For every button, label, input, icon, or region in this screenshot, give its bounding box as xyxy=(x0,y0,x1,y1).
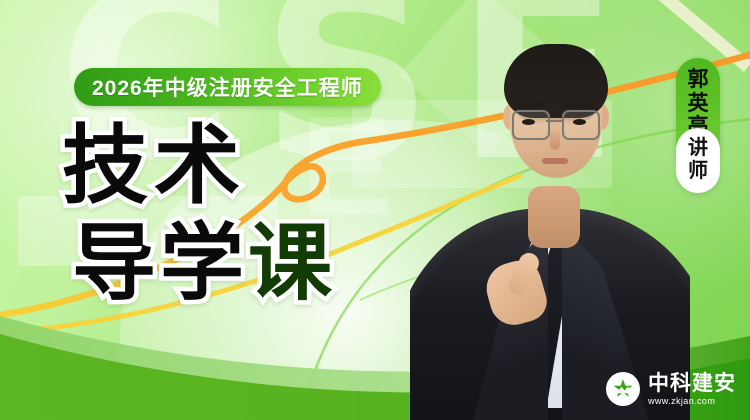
eyeglass-lens-left xyxy=(512,110,550,140)
title-line-2-accent: 课 xyxy=(248,216,336,310)
course-badge: 2026年中级注册安全工程师 xyxy=(74,68,381,106)
title-line-1: 技术 xyxy=(62,124,336,208)
eyeglass-bridge xyxy=(546,120,562,122)
brand-logo[interactable]: 中科建安 www.zkjan.com xyxy=(606,372,736,406)
title-line-2-plain: 导学 xyxy=(72,216,248,310)
instructor-photo xyxy=(410,0,690,420)
instructor-name-char-1: 郭 xyxy=(676,68,720,92)
eyeglass-lens-right xyxy=(562,110,600,140)
eye-right xyxy=(573,119,586,125)
instructor-name-char-2: 英 xyxy=(676,92,720,116)
title-line-2: 导学课 xyxy=(72,222,336,304)
mouth xyxy=(542,158,568,164)
brand-text: 中科建安 www.zkjan.com xyxy=(648,373,736,406)
nose xyxy=(550,128,560,150)
page-title: 技术 导学课 xyxy=(62,124,336,305)
brand-name: 中科建安 xyxy=(648,373,736,394)
promo-banner: CSE E xyxy=(0,0,750,420)
instructor-role-char-1: 讲 xyxy=(676,137,720,160)
brand-url: www.zkjan.com xyxy=(648,397,736,406)
star-mountain-icon xyxy=(606,372,640,406)
instructor-info: 郭 英 亮 讲 师 xyxy=(676,58,720,161)
instructor-role-pill: 讲 师 xyxy=(676,128,720,193)
course-badge-label: 2026年中级注册安全工程师 xyxy=(92,72,363,102)
eye-left xyxy=(522,119,535,125)
instructor-role-char-2: 师 xyxy=(676,160,720,183)
neck xyxy=(528,186,580,248)
